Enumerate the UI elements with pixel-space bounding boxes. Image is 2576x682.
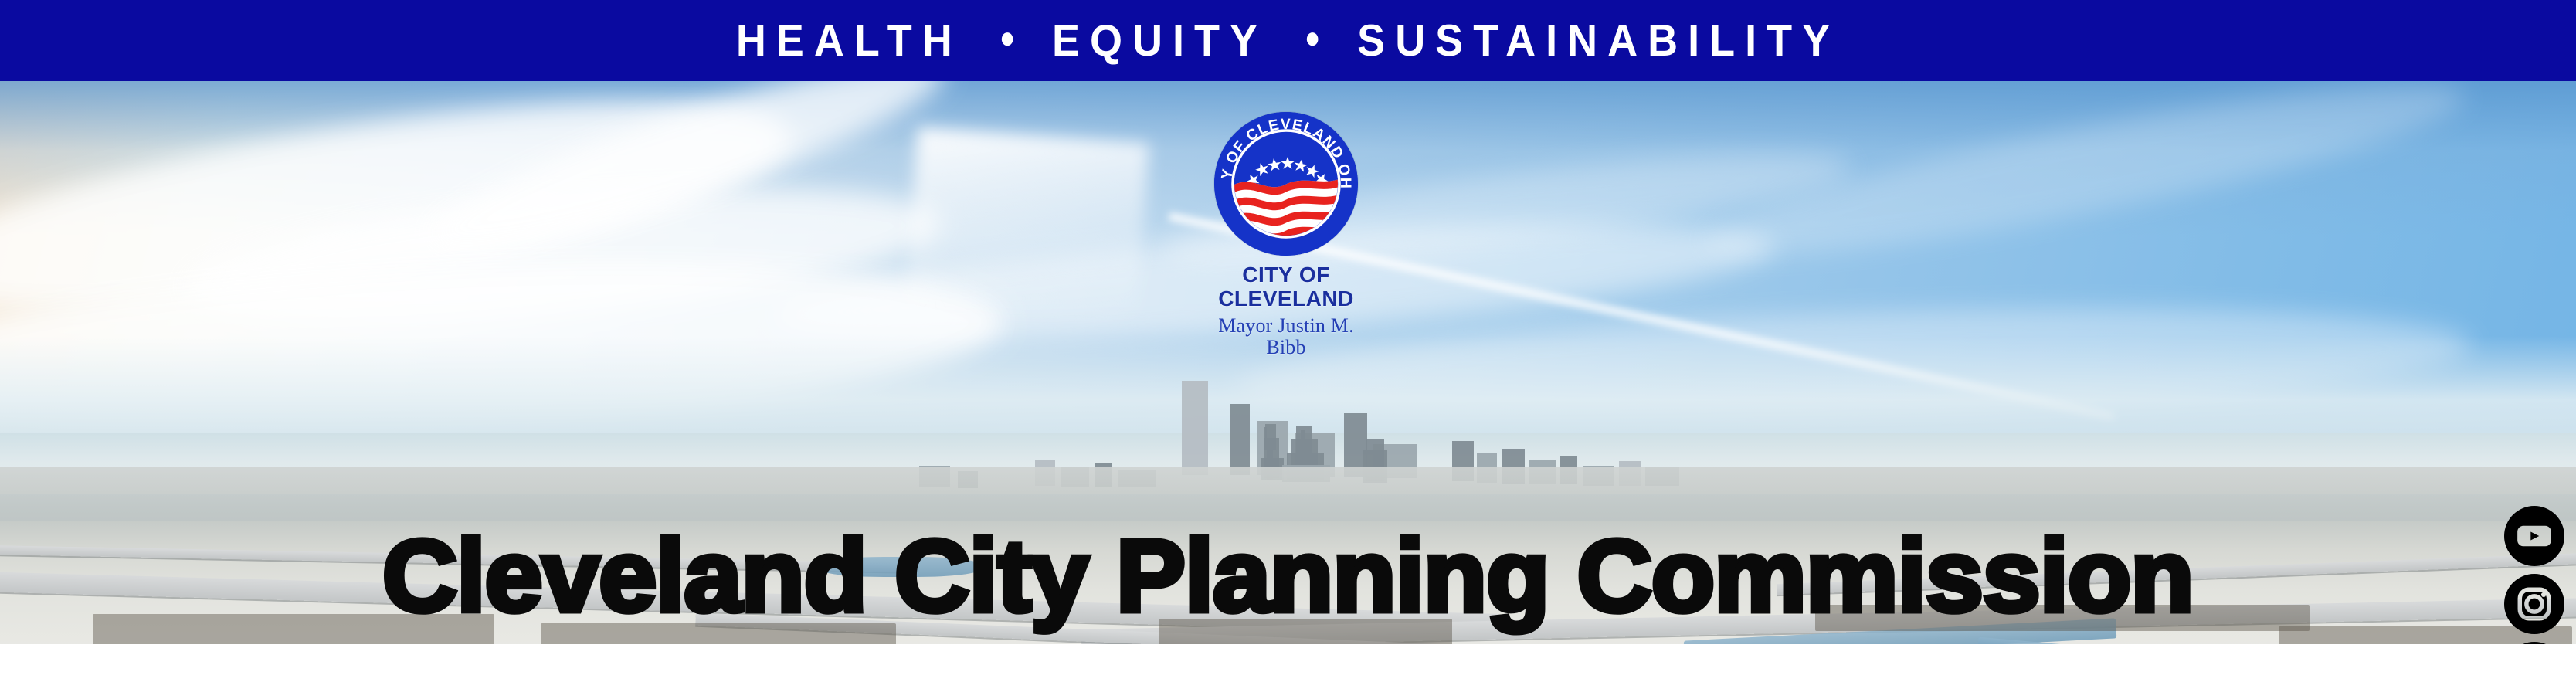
city-logo-block: CITY OF CLEVELAND OHIO [1213, 112, 1359, 359]
city-of-cleveland-seal-icon: CITY OF CLEVELAND OHIO [1214, 112, 1358, 256]
highway-ribbon [1777, 551, 2576, 595]
tagline-word-equity: EQUITY [1052, 19, 1268, 63]
tagline-separator-dot-2: ● [1305, 22, 1321, 53]
logo-caption-mayor: Mayor Justin M. Bibb [1213, 315, 1359, 359]
foreground-neighborhoods [0, 521, 2576, 644]
tagline-inner: HEALTH ● EQUITY ● SUSTAINABILITY [736, 20, 1840, 62]
hero-photo: CITY OF CLEVELAND OHIO [0, 81, 2576, 644]
tagline-banner: HEALTH ● EQUITY ● SUSTAINABILITY [0, 0, 2576, 81]
social-links [2499, 506, 2570, 644]
instagram-icon[interactable] [2504, 574, 2564, 634]
tagline-separator-dot-1: ● [1000, 22, 1016, 53]
highway-ribbon [0, 545, 896, 572]
youtube-icon[interactable] [2504, 506, 2564, 566]
logo-caption-city: CITY OF CLEVELAND [1213, 263, 1359, 311]
facebook-icon[interactable] [2504, 642, 2564, 644]
retention-pond [819, 557, 981, 577]
tagline-word-health: HEALTH [736, 19, 962, 63]
tagline-word-sustainability: SUSTAINABILITY [1357, 19, 1840, 63]
page-root: HEALTH ● EQUITY ● SUSTAINABILITY [0, 0, 2576, 682]
